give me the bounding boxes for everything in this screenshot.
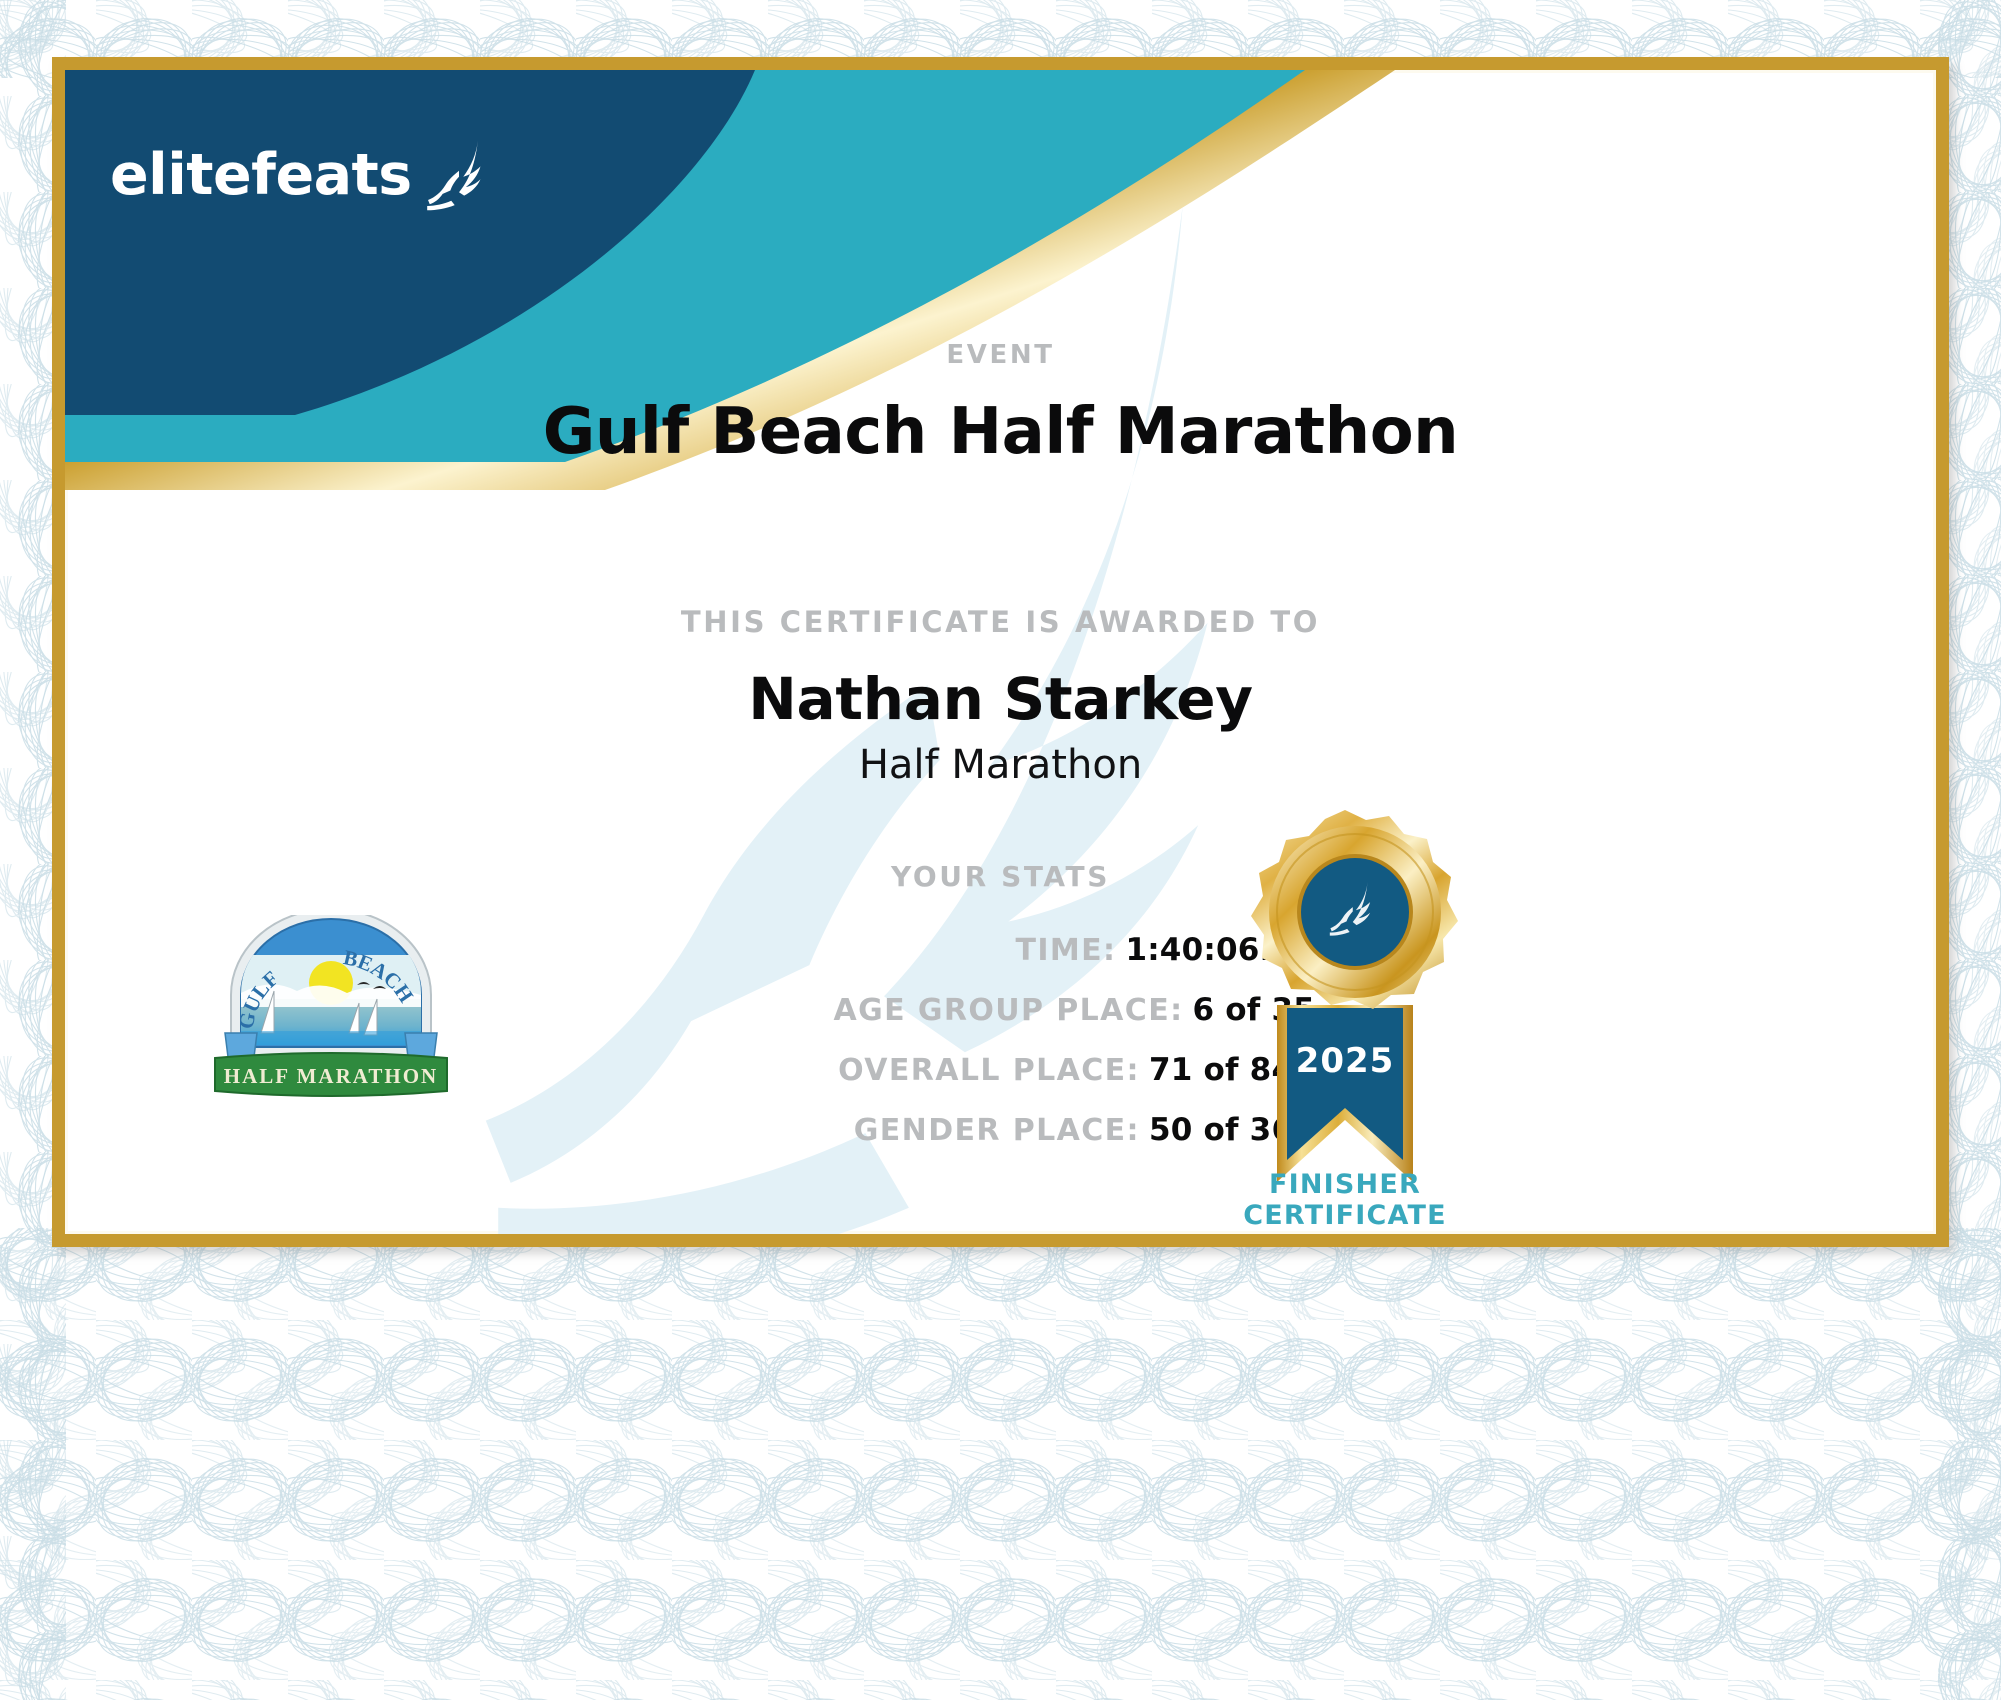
finisher-certificate-caption: FINISHER CERTIFICATE	[1215, 1170, 1475, 1232]
recipient-division: Half Marathon	[65, 742, 1936, 788]
stat-row-gender-place: GENDER PLACE: 50 of 367	[65, 1112, 1315, 1148]
certificate-content: EVENT Gulf Beach Half Marathon THIS CERT…	[65, 70, 1936, 1234]
finisher-caption-line2: CERTIFICATE	[1215, 1201, 1475, 1232]
stat-key: OVERALL PLACE:	[838, 1053, 1140, 1088]
brand-logo: elitefeats	[110, 132, 502, 218]
awarded-to-label: THIS CERTIFICATE IS AWARDED TO	[65, 605, 1936, 639]
certificate-frame: elitefeats EVENT	[52, 57, 1949, 1247]
brand-wordmark: elitefeats	[110, 142, 412, 208]
event-label: EVENT	[65, 340, 1936, 370]
medal-center-disc	[1301, 858, 1409, 966]
medal-ribbon	[1287, 1008, 1403, 1160]
certificate-inner: elitefeats EVENT	[65, 70, 1936, 1234]
medal-year: 2025	[1296, 1041, 1395, 1081]
stat-key: AGE GROUP PLACE:	[833, 993, 1183, 1028]
gold-rosette-medal-icon: 2025	[1215, 800, 1475, 1210]
stat-key: TIME:	[1015, 933, 1116, 968]
recipient-name: Nathan Starkey	[65, 665, 1936, 733]
your-stats-label: YOUR STATS	[65, 860, 1936, 893]
finisher-caption-line1: FINISHER	[1215, 1170, 1475, 1201]
certificate-page: elitefeats EVENT	[0, 0, 2001, 1700]
stat-key: GENDER PLACE:	[854, 1113, 1140, 1148]
badge-banner-text: HALF MARATHON	[224, 1064, 438, 1088]
gulf-beach-half-marathon-badge-icon: GULF BEACH HALF MARATHON	[201, 915, 461, 1100]
event-name: Gulf Beach Half Marathon	[65, 395, 1936, 469]
winged-foot-icon	[416, 132, 502, 218]
